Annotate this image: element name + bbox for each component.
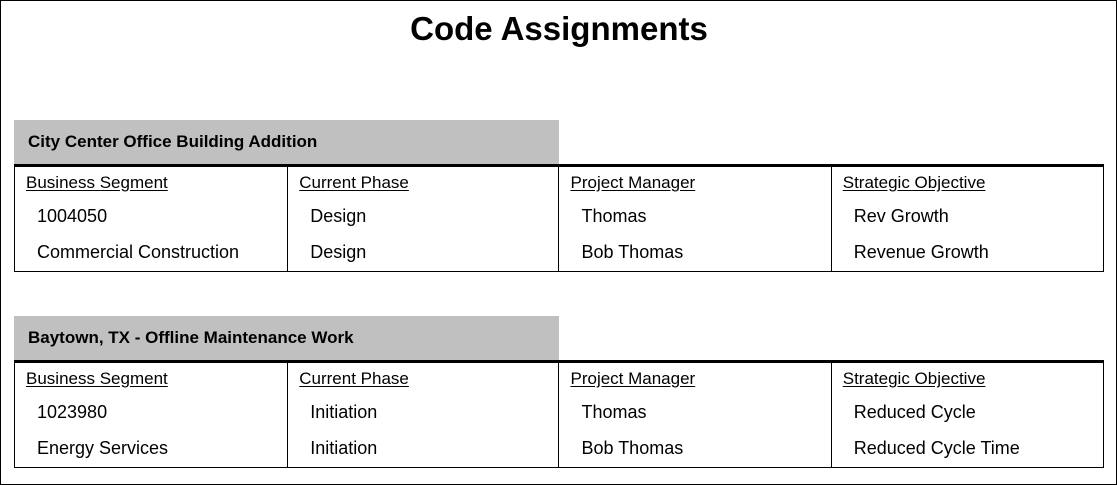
cell-current-phase: Design — [288, 234, 559, 272]
report-group: Baytown, TX - Offline Maintenance Work B… — [14, 316, 1104, 468]
column-header-strategic-objective: Strategic Objective — [831, 362, 1103, 395]
cell-project-manager: Bob Thomas — [559, 234, 831, 272]
column-header-business-segment: Business Segment — [15, 166, 288, 199]
cell-business-segment: Commercial Construction — [15, 234, 288, 272]
column-header-label: Current Phase — [299, 369, 409, 388]
column-header-label: Project Manager — [570, 369, 695, 388]
column-header-label: Business Segment — [26, 173, 168, 192]
column-header-strategic-objective: Strategic Objective — [831, 166, 1103, 199]
assignments-table: Business Segment Current Phase Project M… — [14, 360, 1104, 468]
group-caption: City Center Office Building Addition — [14, 120, 559, 164]
table-row: Energy Services Initiation Bob Thomas Re… — [15, 430, 1104, 468]
cell-project-manager: Bob Thomas — [559, 430, 831, 468]
column-header-business-segment: Business Segment — [15, 362, 288, 395]
column-header-label: Strategic Objective — [843, 369, 986, 388]
column-header-label: Project Manager — [570, 173, 695, 192]
cell-project-manager: Thomas — [559, 394, 831, 430]
column-header-label: Business Segment — [26, 369, 168, 388]
cell-current-phase: Initiation — [288, 394, 559, 430]
cell-business-segment: 1004050 — [15, 198, 288, 234]
cell-strategic-objective: Revenue Growth — [831, 234, 1103, 272]
cell-strategic-objective: Rev Growth — [831, 198, 1103, 234]
cell-current-phase: Design — [288, 198, 559, 234]
column-header-project-manager: Project Manager — [559, 362, 831, 395]
table-row: Commercial Construction Design Bob Thoma… — [15, 234, 1104, 272]
table-header-row: Business Segment Current Phase Project M… — [15, 166, 1104, 199]
page-title: Code Assignments — [14, 9, 1104, 49]
column-header-label: Current Phase — [299, 173, 409, 192]
column-header-current-phase: Current Phase — [288, 362, 559, 395]
report-group: City Center Office Building Addition Bus… — [14, 120, 1104, 272]
column-header-current-phase: Current Phase — [288, 166, 559, 199]
cell-business-segment: Energy Services — [15, 430, 288, 468]
report-page: Code Assignments City Center Office Buil… — [0, 0, 1117, 485]
cell-business-segment: 1023980 — [15, 394, 288, 430]
cell-project-manager: Thomas — [559, 198, 831, 234]
table-header-row: Business Segment Current Phase Project M… — [15, 362, 1104, 395]
column-header-project-manager: Project Manager — [559, 166, 831, 199]
table-row: 1023980 Initiation Thomas Reduced Cycle — [15, 394, 1104, 430]
cell-current-phase: Initiation — [288, 430, 559, 468]
assignments-table: Business Segment Current Phase Project M… — [14, 164, 1104, 272]
table-row: 1004050 Design Thomas Rev Growth — [15, 198, 1104, 234]
group-caption: Baytown, TX - Offline Maintenance Work — [14, 316, 559, 360]
cell-strategic-objective: Reduced Cycle Time — [831, 430, 1103, 468]
cell-strategic-objective: Reduced Cycle — [831, 394, 1103, 430]
column-header-label: Strategic Objective — [843, 173, 986, 192]
